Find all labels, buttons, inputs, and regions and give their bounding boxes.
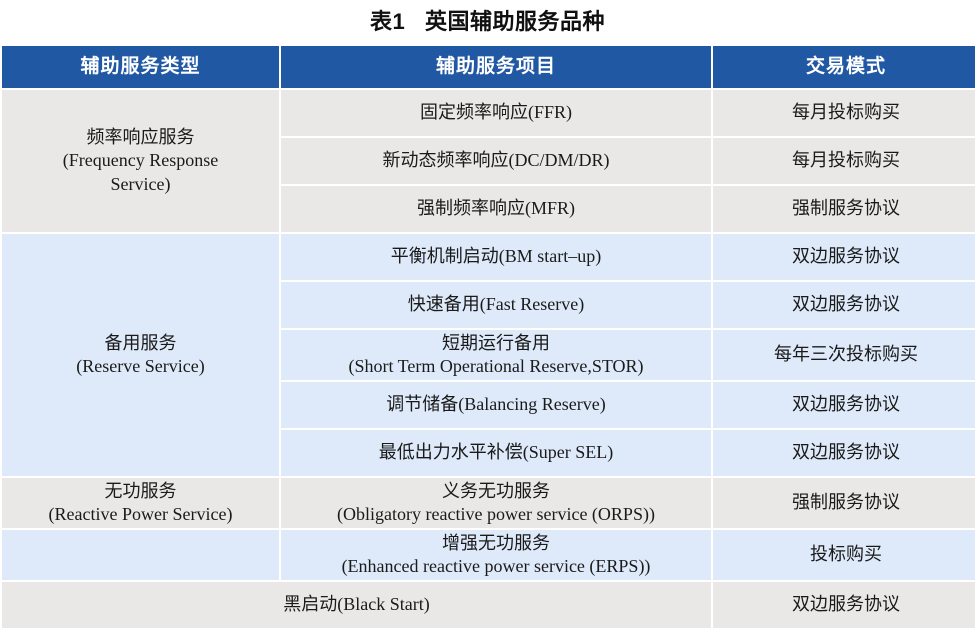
trading-mode-cell: 每月投标购买 (713, 138, 975, 184)
service-item-cell: 平衡机制启动(BM start–up) (281, 234, 711, 280)
service-item-subtext: (Obligatory reactive power service (ORPS… (287, 503, 705, 526)
service-item-cell: 增强无功服务 (Enhanced reactive power service … (281, 530, 711, 580)
group-label-en-line1: (Reactive Power Service) (8, 503, 273, 526)
table-row: 黑启动(Black Start) 双边服务协议 (2, 582, 975, 628)
service-item-text: 黑启动(Black Start) (8, 593, 705, 616)
table-page: 表1 英国辅助服务品种 辅助服务类型 辅助服务项目 交易模式 频率响应服务 (F… (0, 0, 975, 643)
trading-mode-cell: 强制服务协议 (713, 186, 975, 232)
group-label-en-line1: (Reserve Service) (8, 355, 273, 378)
service-item-cell: 快速备用(Fast Reserve) (281, 282, 711, 328)
service-item-cell: 新动态频率响应(DC/DM/DR) (281, 138, 711, 184)
service-item-cell: 义务无功服务 (Obligatory reactive power servic… (281, 478, 711, 528)
service-item-text: 快速备用(Fast Reserve) (287, 293, 705, 316)
trading-mode-text: 每年三次投标购买 (719, 343, 973, 366)
group-label-en-line2: Service) (8, 173, 273, 196)
service-item-text: 固定频率响应(FFR) (287, 101, 705, 124)
trading-mode-cell: 双边服务协议 (713, 382, 975, 428)
trading-mode-cell: 双边服务协议 (713, 430, 975, 476)
group-cell-frequency-response: 频率响应服务 (Frequency Response Service) (2, 90, 279, 232)
trading-mode-text: 强制服务协议 (719, 197, 973, 220)
group-label-cn: 备用服务 (8, 332, 273, 355)
table-body: 频率响应服务 (Frequency Response Service) 固定频率… (2, 90, 975, 628)
column-header-service-type: 辅助服务类型 (2, 46, 279, 88)
service-item-text: 新动态频率响应(DC/DM/DR) (287, 149, 705, 172)
service-item-text: 最低出力水平补偿(Super SEL) (287, 441, 705, 464)
service-item-subtext: (Short Term Operational Reserve,STOR) (287, 355, 705, 378)
group-label-en-line1: (Frequency Response (8, 149, 273, 172)
column-header-trading-mode: 交易模式 (713, 46, 975, 88)
table-row: 无功服务 (Reactive Power Service) 义务无功服务 (Ob… (2, 478, 975, 528)
black-start-item-cell: 黑启动(Black Start) (2, 582, 711, 628)
trading-mode-text: 强制服务协议 (719, 491, 973, 514)
trading-mode-text: 双边服务协议 (719, 441, 973, 464)
header-row: 辅助服务类型 辅助服务项目 交易模式 (2, 46, 975, 88)
service-item-cell: 最低出力水平补偿(Super SEL) (281, 430, 711, 476)
trading-mode-text: 每月投标购买 (719, 101, 973, 124)
trading-mode-text: 投标购买 (719, 543, 973, 566)
trading-mode-cell: 每月投标购买 (713, 90, 975, 136)
service-item-text: 增强无功服务 (287, 532, 705, 555)
trading-mode-cell: 投标购买 (713, 530, 975, 580)
table-row: 备用服务 (Reserve Service) 平衡机制启动(BM start–u… (2, 234, 975, 280)
group-label-cn: 频率响应服务 (8, 126, 273, 149)
trading-mode-text: 每月投标购买 (719, 149, 973, 172)
group-cell-reactive-power-service: 无功服务 (Reactive Power Service) (2, 478, 279, 528)
table-header: 辅助服务类型 辅助服务项目 交易模式 (2, 46, 975, 88)
table-row: 增强无功服务 (Enhanced reactive power service … (2, 530, 975, 580)
service-item-text: 短期运行备用 (287, 332, 705, 355)
service-item-cell: 短期运行备用 (Short Term Operational Reserve,S… (281, 330, 711, 380)
trading-mode-cell: 每年三次投标购买 (713, 330, 975, 380)
service-item-text: 平衡机制启动(BM start–up) (287, 245, 705, 268)
trading-mode-text: 双边服务协议 (719, 393, 973, 416)
table-row: 频率响应服务 (Frequency Response Service) 固定频率… (2, 90, 975, 136)
trading-mode-cell: 双边服务协议 (713, 282, 975, 328)
group-cell-enhanced-reactive-power (2, 530, 279, 580)
trading-mode-cell: 强制服务协议 (713, 478, 975, 528)
group-cell-reserve-service: 备用服务 (Reserve Service) (2, 234, 279, 476)
column-header-service-item: 辅助服务项目 (281, 46, 711, 88)
ancillary-services-table: 辅助服务类型 辅助服务项目 交易模式 频率响应服务 (Frequency Res… (0, 44, 975, 630)
service-item-text: 义务无功服务 (287, 480, 705, 503)
trading-mode-text: 双边服务协议 (719, 293, 973, 316)
service-item-text: 调节储备(Balancing Reserve) (287, 393, 705, 416)
trading-mode-cell: 双边服务协议 (713, 582, 975, 628)
trading-mode-text: 双边服务协议 (719, 245, 973, 268)
service-item-cell: 固定频率响应(FFR) (281, 90, 711, 136)
service-item-cell: 调节储备(Balancing Reserve) (281, 382, 711, 428)
group-label-cn: 无功服务 (8, 480, 273, 503)
service-item-cell: 强制频率响应(MFR) (281, 186, 711, 232)
trading-mode-cell: 双边服务协议 (713, 234, 975, 280)
service-item-text: 强制频率响应(MFR) (287, 197, 705, 220)
service-item-subtext: (Enhanced reactive power service (ERPS)) (287, 555, 705, 578)
trading-mode-text: 双边服务协议 (719, 593, 973, 616)
page-title: 表1 英国辅助服务品种 (0, 0, 975, 44)
